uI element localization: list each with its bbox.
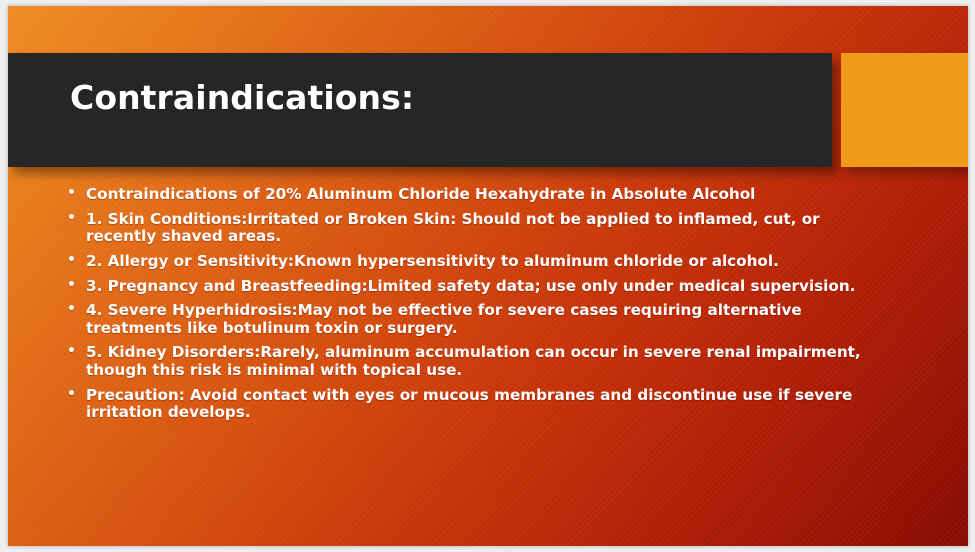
slide-viewer: Contraindications: Contraindications of … [0,0,975,552]
page-title: Contraindications: [70,80,414,116]
list-item: 3. Pregnancy and Breastfeeding:Limited s… [64,278,890,296]
list-item: Contraindications of 20% Aluminum Chlori… [64,186,890,204]
list-item: 1. Skin Conditions:Irritated or Broken S… [64,211,890,246]
bullet-list: Contraindications of 20% Aluminum Chlori… [64,186,890,429]
slide-canvas[interactable]: Contraindications: Contraindications of … [8,6,968,546]
list-item: 2. Allergy or Sensitivity:Known hypersen… [64,253,890,271]
list-item: 4. Severe Hyperhidrosis:May not be effec… [64,302,890,337]
accent-block [841,53,968,167]
title-band[interactable]: Contraindications: [8,53,832,167]
list-item: Precaution: Avoid contact with eyes or m… [64,387,890,422]
list-item: 5. Kidney Disorders:Rarely, aluminum acc… [64,344,890,379]
